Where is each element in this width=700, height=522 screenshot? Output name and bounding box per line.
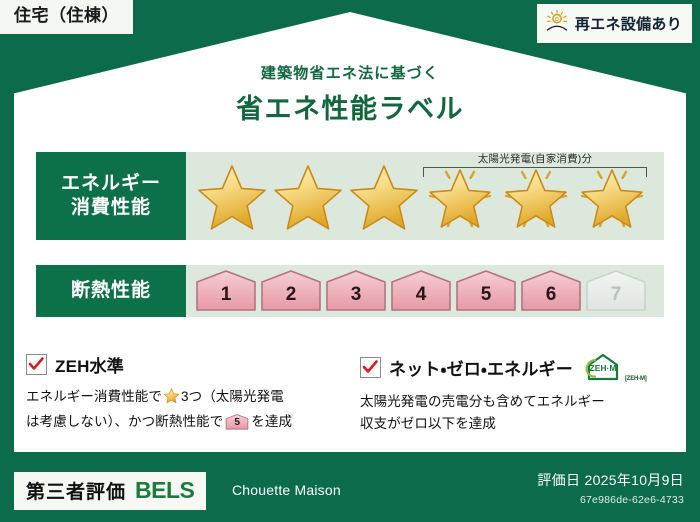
label-footer: 第三者評価 BELS Chouette Maison 評価日 2025年10月9… — [0, 460, 700, 522]
bels-certification-box: 第三者評価 BELS — [14, 472, 206, 510]
criterion-text-line2: 収支がゼロ以下を達成 — [360, 416, 496, 431]
energy-performance-label: 住宅（住棟） D 再エネ設備あり 建築物省エネ法に基づ — [0, 0, 700, 522]
star-rating — [186, 152, 664, 240]
criterion-text-part4: を達成 — [251, 414, 292, 429]
insulation-grade-number: 1 — [194, 269, 258, 313]
svg-text:ZEH·M: ZEH·M — [590, 363, 617, 373]
checkbox-checked-icon — [26, 354, 47, 375]
svg-text:D: D — [555, 17, 559, 23]
criterion-body: 太陽光発電の売電分も含めてエネルギー 収支がゼロ以下を達成 — [360, 391, 680, 435]
insulation-grade-number: 6 — [519, 269, 583, 313]
star-item — [270, 158, 346, 234]
energy-performance-stars-panel: 太陽光発電(自家消費)分 — [186, 152, 664, 240]
criterion-header: ZEH水準 — [26, 352, 338, 377]
insulation-grade-item: 6 — [519, 269, 583, 313]
insulation-grade-number: 7 — [584, 269, 648, 313]
star-item-solar — [498, 158, 574, 234]
energy-performance-row: エネルギー 消費性能 — [36, 152, 664, 240]
building-type-tag: 住宅（住棟） — [0, 0, 133, 34]
renewable-badge-label: 再エネ設備あり — [575, 13, 682, 34]
label-subtitle: 建築物省エネ法に基づく — [0, 62, 700, 83]
criterion-text-part3: は考慮しない）、かつ断熱性能で — [26, 414, 223, 429]
insulation-performance-label-box: 断熱性能 — [36, 265, 186, 317]
insulation-grade-number: 5 — [454, 269, 518, 313]
title-block: 建築物省エネ法に基づく 省エネ性能ラベル — [0, 62, 700, 126]
energy-label-line2: 消費性能 — [71, 196, 151, 220]
insulation-performance-row: 断熱性能 — [36, 265, 664, 317]
insulation-grade-number: 2 — [259, 269, 323, 313]
criterion-text-part2: 3つ（太陽光発電 — [181, 389, 284, 404]
insulation-grade-panel: 1 2 3 4 — [186, 265, 664, 317]
company-name: Chouette Maison — [232, 482, 341, 498]
evaluation-date-label: 評価日 — [537, 472, 580, 488]
insulation-grade-item: 5 — [454, 269, 518, 313]
insulation-label: 断熱性能 — [71, 279, 151, 303]
criterion-net-zero-energy: ネット・ゼロ・エネルギー ZEH·M [ZEH-M] 太陽光発電の売電分も含めて… — [360, 352, 680, 435]
criterion-zeh-standard: ZEH水準 エネルギー消費性能で3つ（太陽光発電 は考慮しない）、かつ断熱性能で… — [26, 352, 338, 433]
star-item — [194, 158, 270, 234]
star-item-solar — [574, 158, 650, 234]
insulation-grade-number: 4 — [389, 269, 453, 313]
criterion-title: ZEH水準 — [55, 352, 124, 377]
insulation-grade-scale: 1 2 3 4 — [186, 265, 664, 317]
criterion-title: ネット・ゼロ・エネルギー — [389, 355, 573, 380]
energy-performance-label-box: エネルギー 消費性能 — [36, 152, 186, 240]
energy-label-line1: エネルギー — [61, 172, 161, 196]
insulation-grade-item: 2 — [259, 269, 323, 313]
renewable-equipment-badge: D 再エネ設備あり — [537, 4, 692, 43]
evaluation-info: 評価日 2025年10月9日 67e986de-62e6-4733 — [537, 470, 684, 506]
zeh-m-logo-caption: [ZEH-M] — [625, 376, 647, 382]
insulation-grade-number: 3 — [324, 269, 388, 313]
bels-logo-text: BELS — [135, 477, 194, 504]
insulation-grade-item-unachieved: 7 — [584, 269, 648, 313]
evaluation-date-value: 2025年10月9日 — [584, 472, 684, 488]
checkbox-checked-icon — [360, 357, 381, 378]
criterion-text-line1: 太陽光発電の売電分も含めてエネルギー — [360, 394, 605, 409]
insulation-grade-item: 3 — [324, 269, 388, 313]
third-party-evaluation-text: 第三者評価 — [26, 477, 126, 504]
criterion-body: エネルギー消費性能で3つ（太陽光発電 は考慮しない）、かつ断熱性能で5を達成 — [26, 386, 338, 433]
insulation-grade-item: 4 — [389, 269, 453, 313]
star-item — [346, 158, 422, 234]
sun-renewable-icon: D — [545, 9, 569, 38]
star-icon — [163, 387, 180, 411]
evaluation-uid: 67e986de-62e6-4733 — [537, 494, 684, 506]
building-type-text: 住宅（住棟） — [14, 6, 119, 25]
criterion-header: ネット・ゼロ・エネルギー ZEH·M [ZEH-M] — [360, 352, 680, 382]
house-badge-icon: 5 — [225, 413, 249, 431]
insulation-grade-item: 1 — [194, 269, 258, 313]
evaluation-date: 評価日 2025年10月9日 — [537, 470, 684, 490]
zeh-m-logo-icon: ZEH·M [ZEH-M] — [583, 352, 647, 382]
criterion-text-part1: エネルギー消費性能で — [26, 389, 162, 404]
label-title: 省エネ性能ラベル — [0, 87, 700, 126]
star-item-solar — [422, 158, 498, 234]
house-badge-number: 5 — [225, 413, 249, 431]
